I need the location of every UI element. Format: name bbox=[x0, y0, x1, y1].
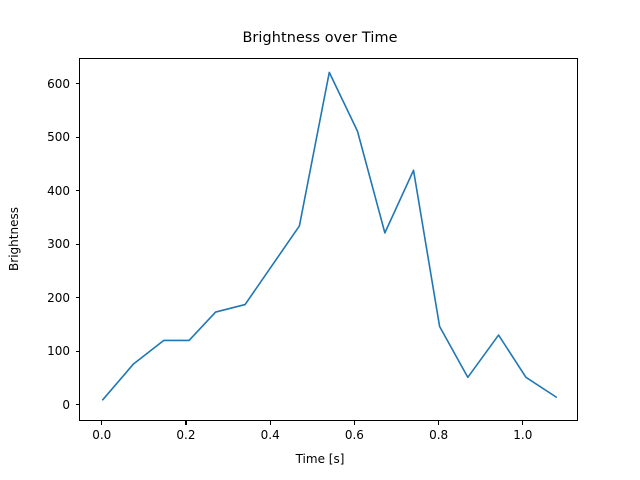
x-tick-label: 0.0 bbox=[92, 428, 111, 442]
x-tick-label: 0.4 bbox=[261, 428, 280, 442]
x-tick-label: 0.2 bbox=[176, 428, 195, 442]
brightness-line-series bbox=[103, 72, 557, 399]
y-tick-label: 200 bbox=[30, 291, 70, 305]
y-tick-label: 500 bbox=[30, 130, 70, 144]
plot-svg bbox=[80, 59, 579, 422]
x-tick-label: 0.8 bbox=[429, 428, 448, 442]
y-tick-label: 100 bbox=[30, 344, 70, 358]
y-tick-label: 600 bbox=[30, 77, 70, 91]
y-axis-label: Brightness bbox=[7, 207, 21, 271]
y-tick-label: 300 bbox=[30, 237, 70, 251]
plot-area bbox=[79, 58, 578, 421]
x-tick-label: 0.6 bbox=[345, 428, 364, 442]
y-tick-label: 400 bbox=[30, 184, 70, 198]
y-tick-label: 0 bbox=[30, 398, 70, 412]
x-tick-label: 1.0 bbox=[513, 428, 532, 442]
figure-canvas: Brightness over Time Brightness Time [s]… bbox=[0, 0, 640, 480]
chart-title: Brightness over Time bbox=[0, 30, 640, 46]
x-axis-label: Time [s] bbox=[0, 452, 640, 466]
